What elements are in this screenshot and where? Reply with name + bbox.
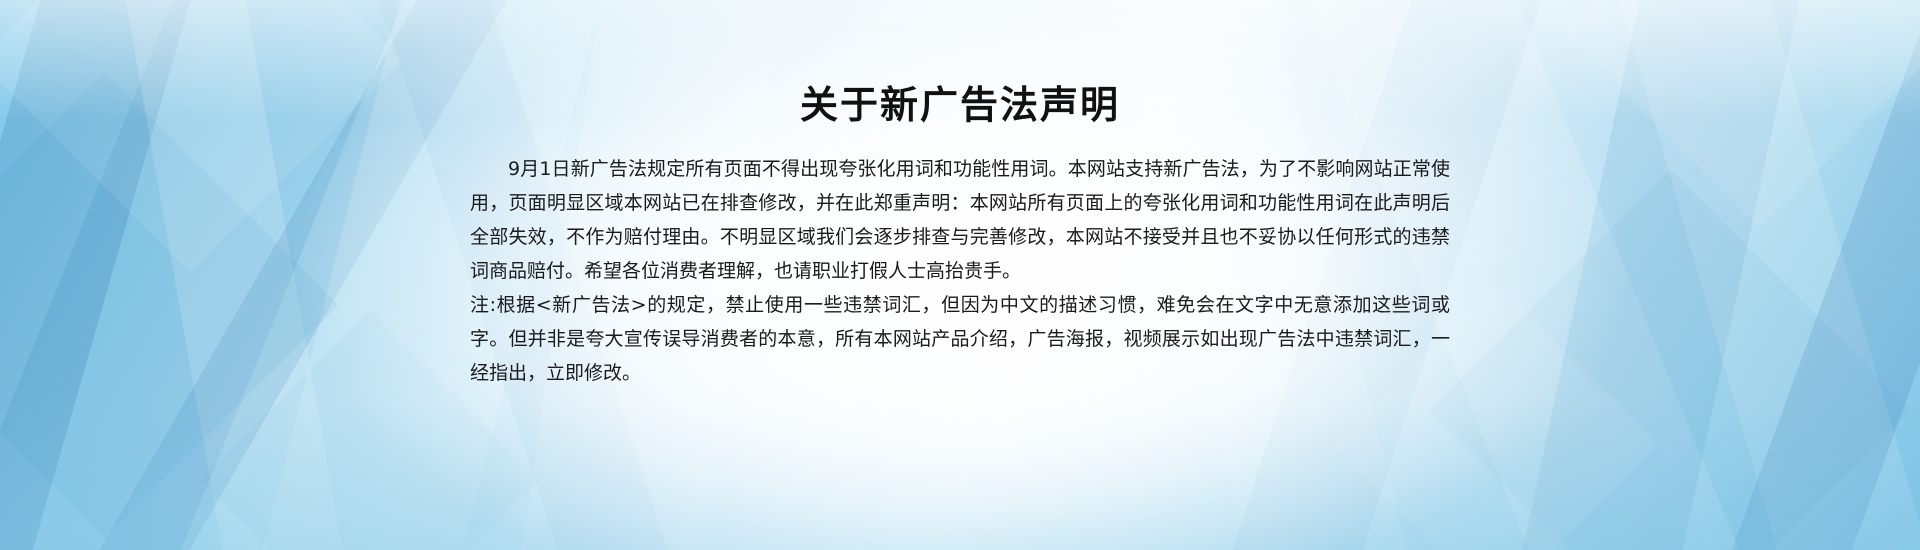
statement-content: 关于新广告法声明 9月1日新广告法规定所有页面不得出现夸张化用词和功能性用词。本… [470,84,1450,390]
statement-paragraph-main: 9月1日新广告法规定所有页面不得出现夸张化用词和功能性用词。本网站支持新广告法，… [470,152,1450,288]
advertising-law-statement-banner: 关于新广告法声明 9月1日新广告法规定所有页面不得出现夸张化用词和功能性用词。本… [0,0,1920,550]
statement-paragraph-note: 注:根据<新广告法>的规定，禁止使用一些违禁词汇，但因为中文的描述习惯，难免会在… [470,288,1450,390]
page-title: 关于新广告法声明 [470,84,1450,128]
